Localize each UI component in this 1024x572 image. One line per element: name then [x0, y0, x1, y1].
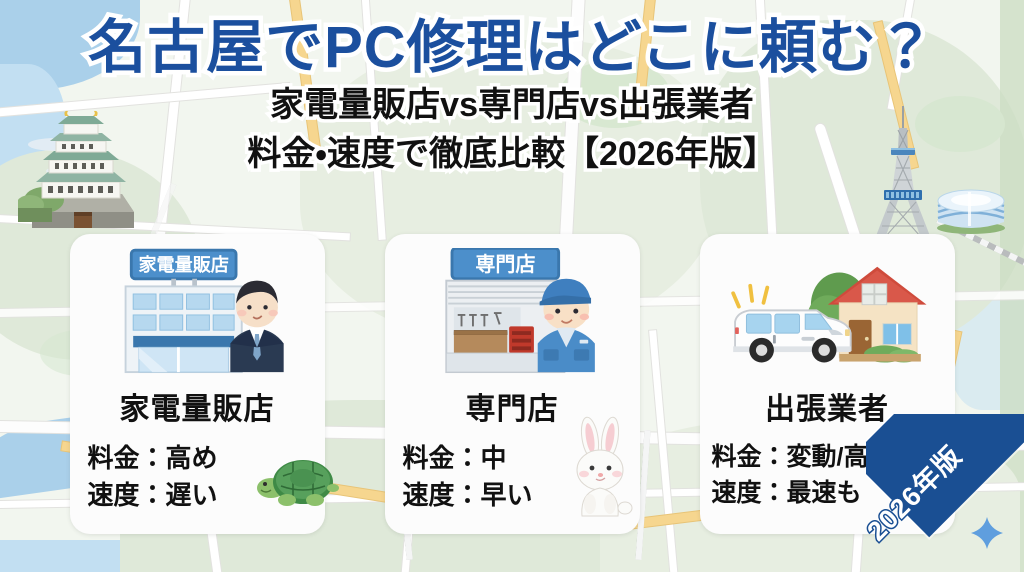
speed-spec-1: 速度：遅い: [88, 477, 325, 514]
infographic-canvas: 名古屋でPC修理はどこに頼む？ 家電量販店vs専門店vs出張業者 料金・速度で徹…: [0, 0, 1024, 572]
page-title: 名古屋でPC修理はどこに頼む？: [0, 18, 1024, 78]
service-van-house-illustration: [700, 240, 955, 380]
card-specs-2: 料金：中 速度：早い: [385, 440, 640, 514]
price-spec-2: 料金：中: [403, 440, 640, 477]
electronics-store-illustration: 家電量販店: [70, 240, 325, 380]
store-sign-label-1: 家電量販店: [138, 254, 228, 275]
card-specs-1: 料金：高め 速度：遅い: [70, 440, 325, 514]
speed-spec-2: 速度：早い: [403, 477, 640, 514]
subtitle: 家電量販店vs専門店vs出張業者 料金・速度で徹底比較【2026年版】: [0, 84, 1024, 176]
oasis21-building-illustration: [930, 182, 1012, 234]
card-specialty-shop[interactable]: 専門店: [385, 234, 640, 534]
card-title-2: 専門店: [466, 384, 559, 428]
card-mass-retailer[interactable]: 家電量販店: [70, 234, 325, 534]
sparkle-icon: [970, 516, 1004, 550]
specialty-shop-illustration: 専門店: [385, 240, 640, 380]
card-title-1: 家電量販店: [120, 384, 275, 428]
store-sign-label-2: 専門店: [475, 252, 535, 276]
price-spec-1: 料金：高め: [88, 440, 325, 477]
year-edition-ribbon: 2026年版: [866, 414, 1024, 572]
subtitle-line-1: 家電量販店vs専門店vs出張業者: [270, 86, 754, 124]
title-block: 名古屋でPC修理はどこに頼む？ 家電量販店vs専門店vs出張業者 料金・速度で徹…: [0, 18, 1024, 176]
subtitle-line-2: 料金・速度で徹底比較【2026年版】: [0, 133, 1024, 177]
